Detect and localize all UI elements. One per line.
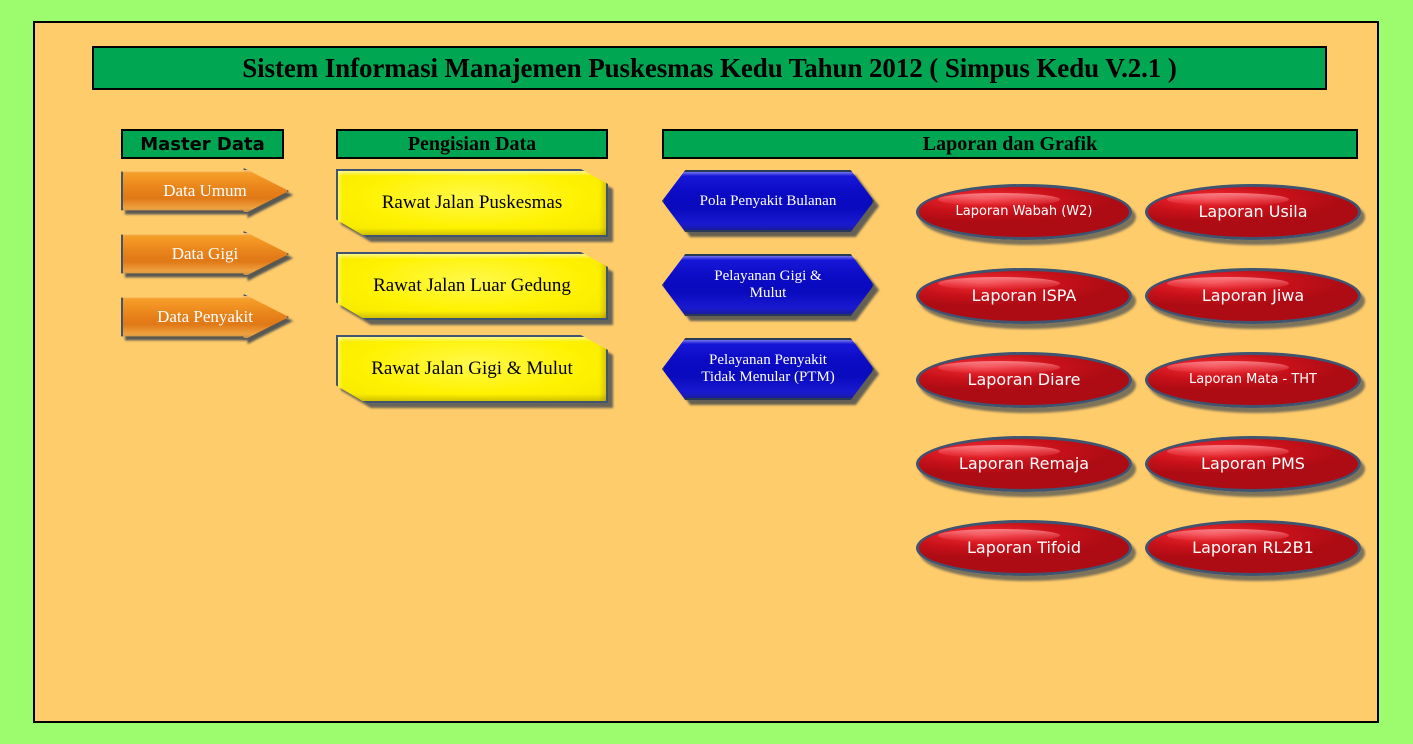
report-button-laporan-diare[interactable]: Laporan Diare: [916, 352, 1132, 408]
section-header-laporan-dan-grafik-label: Laporan dan Grafik: [923, 133, 1097, 156]
menu-button-pola-penyakit-bulanan-label: Pola Penyakit Bulanan: [700, 193, 837, 210]
report-button-laporan-usila[interactable]: Laporan Usila: [1145, 184, 1361, 240]
label-line-2: Mulut: [750, 285, 787, 301]
report-button-laporan-pms[interactable]: Laporan PMS: [1145, 436, 1361, 492]
menu-button-pelayanan-penyakit-tidak-menular-label: Pelayanan Penyakit Tidak Menular (PTM): [701, 352, 835, 386]
report-button-laporan-jiwa[interactable]: Laporan Jiwa: [1145, 268, 1361, 324]
report-button-laporan-tifoid[interactable]: Laporan Tifoid: [916, 520, 1132, 576]
report-button-laporan-rl2b1[interactable]: Laporan RL2B1: [1145, 520, 1361, 576]
menu-button-rawat-jalan-luar-gedung-label: Rawat Jalan Luar Gedung: [373, 275, 571, 296]
menu-button-pelayanan-penyakit-tidak-menular[interactable]: Pelayanan Penyakit Tidak Menular (PTM): [662, 338, 874, 400]
section-header-pengisian-data: Pengisian Data: [336, 129, 608, 159]
report-button-laporan-wabah-w2[interactable]: Laporan Wabah (W2): [916, 184, 1132, 240]
menu-button-rawat-jalan-puskesmas[interactable]: Rawat Jalan Puskesmas: [336, 169, 608, 237]
application-panel: Sistem Informasi Manajemen Puskesmas Ked…: [33, 21, 1379, 723]
label-line-1: Pelayanan Gigi &: [714, 268, 821, 284]
report-button-laporan-remaja[interactable]: Laporan Remaja: [916, 436, 1132, 492]
report-button-laporan-diare-label: Laporan Diare: [968, 371, 1081, 389]
section-header-master-data-label: Master Data: [140, 134, 265, 155]
section-header-pengisian-data-label: Pengisian Data: [408, 133, 536, 156]
report-button-laporan-usila-label: Laporan Usila: [1198, 203, 1307, 221]
menu-button-data-umum-label: Data Umum: [163, 181, 247, 200]
report-button-laporan-mata-tht-label: Laporan Mata - THT: [1189, 373, 1317, 388]
section-header-master-data: Master Data: [121, 129, 284, 159]
label-line-1: Pola Penyakit Bulanan: [700, 193, 837, 209]
label-line-1: Pelayanan Penyakit: [709, 352, 827, 368]
menu-button-data-gigi-label: Data Gigi: [172, 244, 239, 263]
menu-button-data-gigi[interactable]: Data Gigi: [121, 231, 289, 277]
menu-button-pelayanan-gigi-mulut-label: Pelayanan Gigi & Mulut: [714, 268, 821, 302]
menu-button-rawat-jalan-luar-gedung[interactable]: Rawat Jalan Luar Gedung: [336, 252, 608, 320]
menu-button-rawat-jalan-puskesmas-label: Rawat Jalan Puskesmas: [382, 192, 562, 213]
app-title: Sistem Informasi Manajemen Puskesmas Ked…: [242, 53, 1177, 84]
menu-button-rawat-jalan-gigi-mulut-label: Rawat Jalan Gigi & Mulut: [371, 358, 573, 379]
report-button-laporan-ispa-label: Laporan ISPA: [972, 287, 1077, 305]
report-button-laporan-jiwa-label: Laporan Jiwa: [1202, 287, 1304, 305]
report-button-laporan-mata-tht[interactable]: Laporan Mata - THT: [1145, 352, 1361, 408]
report-button-laporan-pms-label: Laporan PMS: [1201, 455, 1305, 473]
report-button-laporan-remaja-label: Laporan Remaja: [959, 455, 1089, 473]
app-title-bar: Sistem Informasi Manajemen Puskesmas Ked…: [92, 46, 1327, 90]
label-line-2: Tidak Menular (PTM): [701, 369, 835, 385]
report-button-laporan-ispa[interactable]: Laporan ISPA: [916, 268, 1132, 324]
menu-button-rawat-jalan-gigi-mulut[interactable]: Rawat Jalan Gigi & Mulut: [336, 335, 608, 403]
menu-button-data-penyakit[interactable]: Data Penyakit: [121, 294, 289, 340]
section-header-laporan-dan-grafik: Laporan dan Grafik: [662, 129, 1358, 159]
report-button-laporan-wabah-w2-label: Laporan Wabah (W2): [956, 205, 1093, 220]
menu-button-data-penyakit-label: Data Penyakit: [157, 307, 253, 326]
menu-button-data-umum[interactable]: Data Umum: [121, 168, 289, 214]
report-button-laporan-tifoid-label: Laporan Tifoid: [967, 539, 1081, 557]
menu-button-pola-penyakit-bulanan[interactable]: Pola Penyakit Bulanan: [662, 170, 874, 232]
report-button-laporan-rl2b1-label: Laporan RL2B1: [1192, 539, 1314, 557]
menu-button-pelayanan-gigi-mulut[interactable]: Pelayanan Gigi & Mulut: [662, 254, 874, 316]
